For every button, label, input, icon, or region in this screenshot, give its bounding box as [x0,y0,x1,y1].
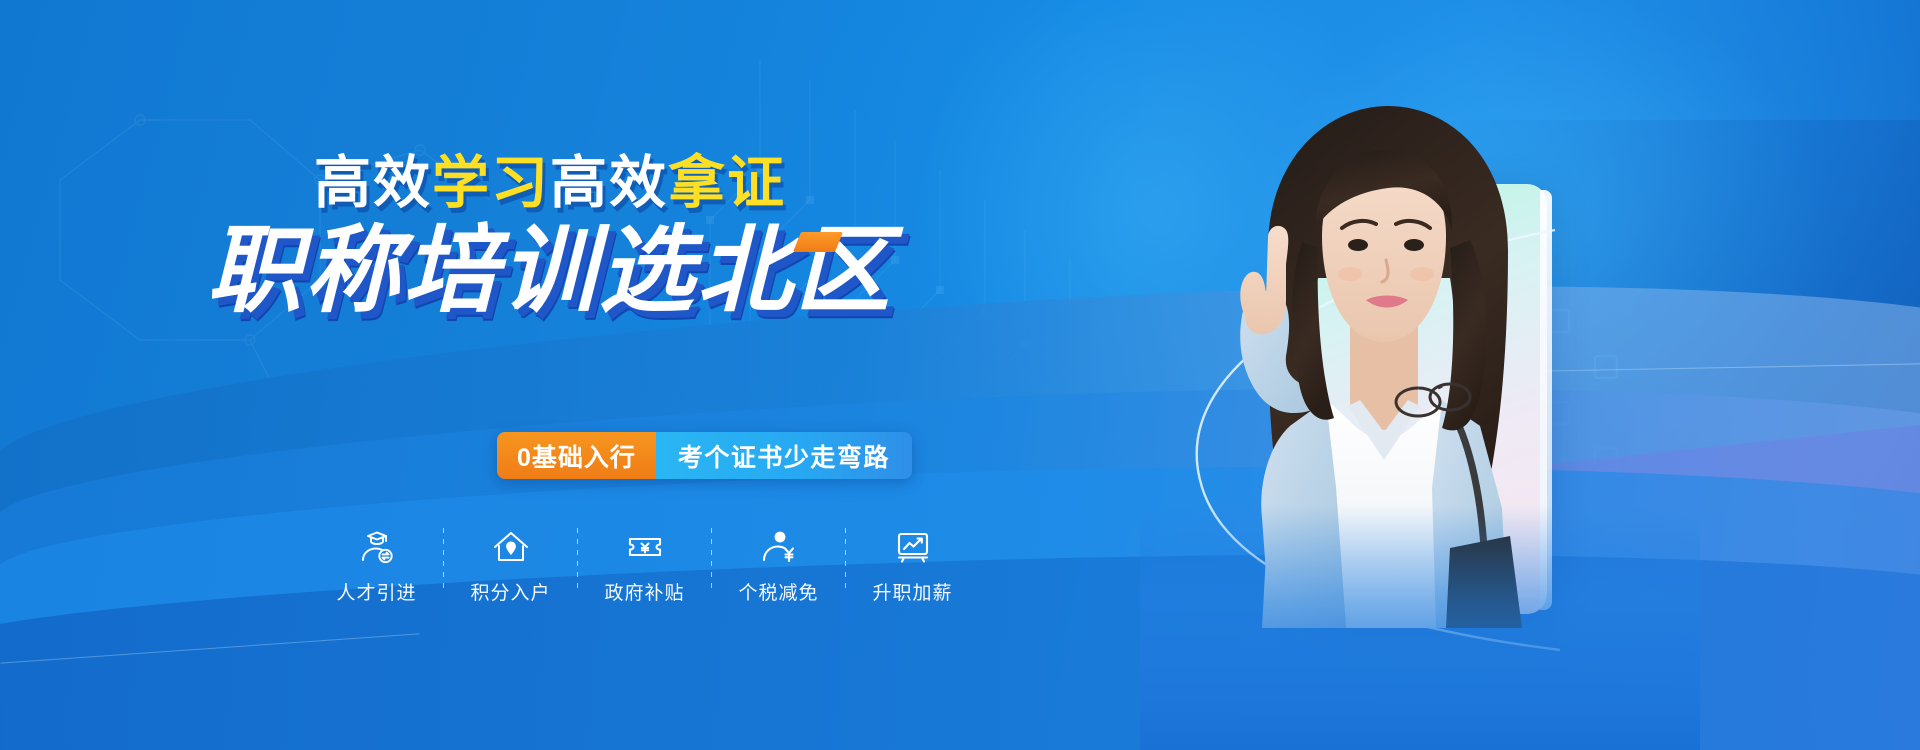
feature-list: 人才引进 积分入户 [310,525,979,605]
house-pin-icon [491,525,531,569]
graduate-person-icon [357,525,397,569]
headline: 高效学习高效拿证 [0,155,1100,212]
model-photo [1150,88,1620,628]
feature-item-subsidy[interactable]: 政府补贴 [578,525,711,605]
selling-point-badge: 0基础入行 考个证书少走弯路 [497,432,912,479]
headline-seg-2: 学习 [432,151,550,215]
headline-seg-1: 高效 [314,151,432,215]
feature-item-residency[interactable]: 积分入户 [444,525,577,605]
feature-label: 个税减免 [738,578,818,605]
headline-seg-3: 高效 [550,151,668,215]
coupon-yuan-icon [625,525,665,569]
headline-seg-4: 拿证 [668,151,786,215]
promo-banner: 高效学习高效拿证 职称培训选北区 0基础入行 考个证书少走弯路 [0,0,1920,750]
feature-label: 人才引进 [336,578,416,605]
feature-item-tax[interactable]: 个税减免 [712,525,845,605]
person-yuan-icon [759,525,799,569]
orange-accent-mark [793,232,843,252]
badge-right-label: 考个证书少走弯路 [656,432,912,479]
feature-item-promotion[interactable]: 升职加薪 [846,525,979,605]
chart-board-icon [893,525,933,569]
copy-block: 高效学习高效拿证 职称培训选北区 0基础入行 考个证书少走弯路 [0,0,1180,750]
feature-label: 升职加薪 [872,578,952,605]
badge-left-label: 0基础入行 [497,432,656,479]
feature-label: 政府补贴 [604,578,684,605]
feature-label: 积分入户 [470,578,550,605]
main-title: 职称培训选北区 [0,222,1100,322]
feature-item-talent[interactable]: 人才引进 [310,525,443,605]
